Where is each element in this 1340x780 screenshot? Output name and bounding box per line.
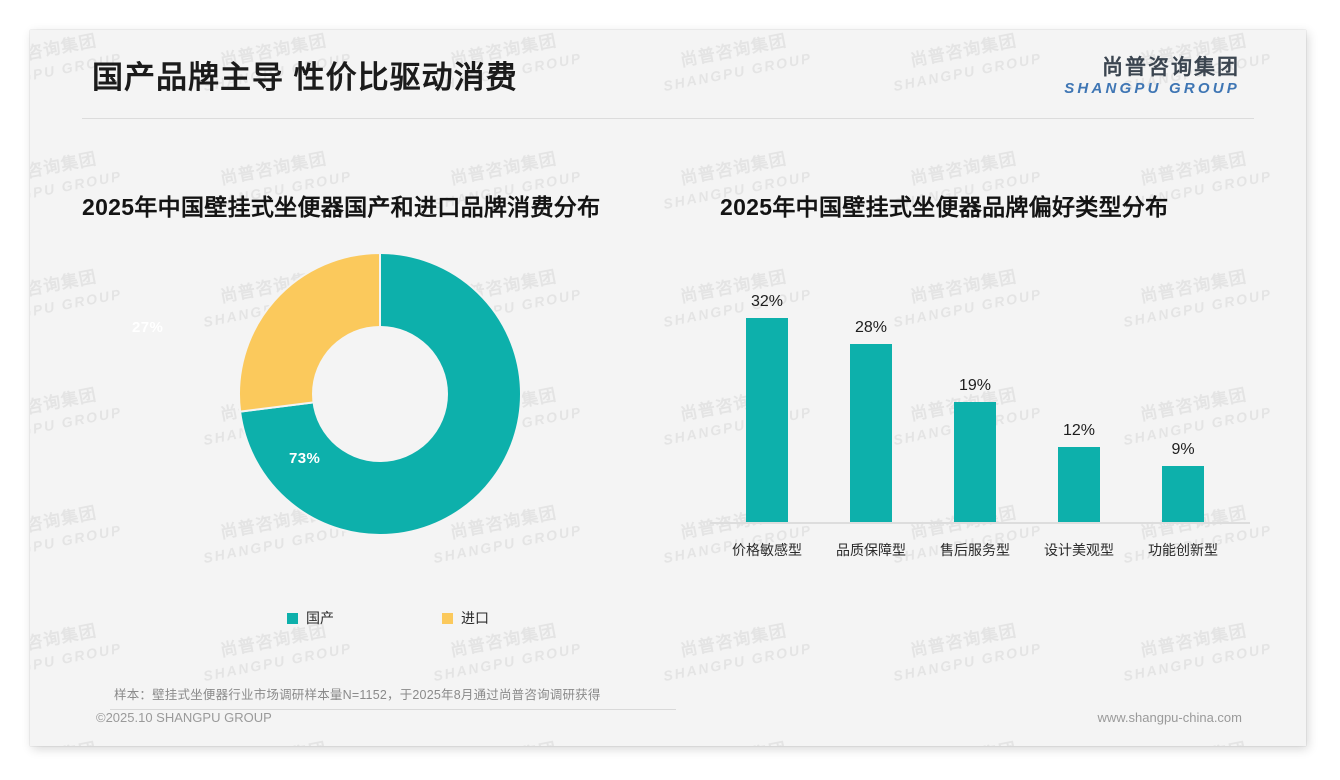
logo-english-text: SHANGPU GROUP: [1064, 80, 1240, 98]
bar-column[interactable]: 9%: [1132, 256, 1234, 524]
bar-value-label: 28%: [855, 319, 887, 337]
bar-category-label: 价格敏感型: [716, 540, 818, 560]
bar-rect[interactable]: [1162, 466, 1204, 524]
logo-chinese-text: 尚普咨询集团: [1064, 56, 1240, 80]
bar-column[interactable]: 28%: [820, 256, 922, 524]
bar-rect[interactable]: [746, 318, 788, 524]
bar-category-label: 设计美观型: [1028, 540, 1130, 560]
legend-item-imported[interactable]: 进口: [442, 608, 489, 628]
website-url[interactable]: www.shangpu-china.com: [1097, 710, 1242, 725]
sample-footnote: 样本：壁挂式坐便器行业市场调研样本量N=1152，于2025年8月通过尚普咨询调…: [114, 684, 601, 703]
brand-logo: 尚普咨询集团 SHANGPU GROUP: [1064, 56, 1240, 98]
donut-legend: 国产 进口: [56, 608, 686, 628]
donut-label-imported: 27%: [132, 319, 163, 336]
legend-swatch-domestic: [287, 613, 298, 624]
bar-column[interactable]: 19%: [924, 256, 1026, 524]
bar-column[interactable]: 12%: [1028, 256, 1130, 524]
page-title: 国产品牌主导 性价比驱动消费: [92, 52, 518, 97]
donut-label-domestic: 73%: [289, 450, 320, 467]
bar-category-label: 品质保障型: [820, 540, 922, 560]
header-divider: [82, 118, 1254, 119]
bar-chart-area: 32%28%19%12%9% 价格敏感型品质保障型售后服务型设计美观型功能创新型: [710, 240, 1250, 560]
bar-chart-baseline: [710, 522, 1250, 524]
bar-value-label: 9%: [1171, 441, 1194, 459]
slide-footer: ©2025.10 SHANGPU GROUP www.shangpu-china…: [30, 710, 1306, 746]
donut-hole: [312, 326, 448, 462]
copyright-text: ©2025.10 SHANGPU GROUP: [96, 710, 272, 725]
slide-header: 国产品牌主导 性价比驱动消费 尚普咨询集团 SHANGPU GROUP: [30, 30, 1306, 117]
bar-rect[interactable]: [954, 402, 996, 524]
bar-rect[interactable]: [850, 344, 892, 524]
legend-item-domestic[interactable]: 国产: [287, 608, 334, 628]
legend-swatch-imported: [442, 613, 453, 624]
donut-chart-panel: 2025年中国壁挂式坐便器国产和进口品牌消费分布 27% 73% 国产: [56, 188, 686, 648]
bar-value-label: 19%: [959, 377, 991, 395]
bar-column[interactable]: 32%: [716, 256, 818, 524]
bar-value-label: 12%: [1063, 422, 1095, 440]
bar-rect[interactable]: [1058, 447, 1100, 524]
donut-chart-svg: [230, 244, 530, 544]
legend-label-imported: 进口: [461, 608, 489, 628]
bar-category-label: 售后服务型: [924, 540, 1026, 560]
slide-card: 尚普咨询集团SHANGPU GROUP尚普咨询集团SHANGPU GROUP尚普…: [30, 30, 1306, 746]
bar-chart-plot: 32%28%19%12%9%: [710, 256, 1250, 524]
donut-chart-area: 27% 73%: [56, 242, 686, 572]
legend-label-domestic: 国产: [306, 608, 334, 628]
donut-chart-title: 2025年中国壁挂式坐便器国产和进口品牌消费分布: [82, 188, 686, 222]
bar-chart-title: 2025年中国壁挂式坐便器品牌偏好类型分布: [720, 188, 1290, 222]
bar-value-label: 32%: [751, 293, 783, 311]
bar-category-label: 功能创新型: [1132, 540, 1234, 560]
bar-chart-panel: 2025年中国壁挂式坐便器品牌偏好类型分布 32%28%19%12%9% 价格敏…: [690, 188, 1290, 648]
